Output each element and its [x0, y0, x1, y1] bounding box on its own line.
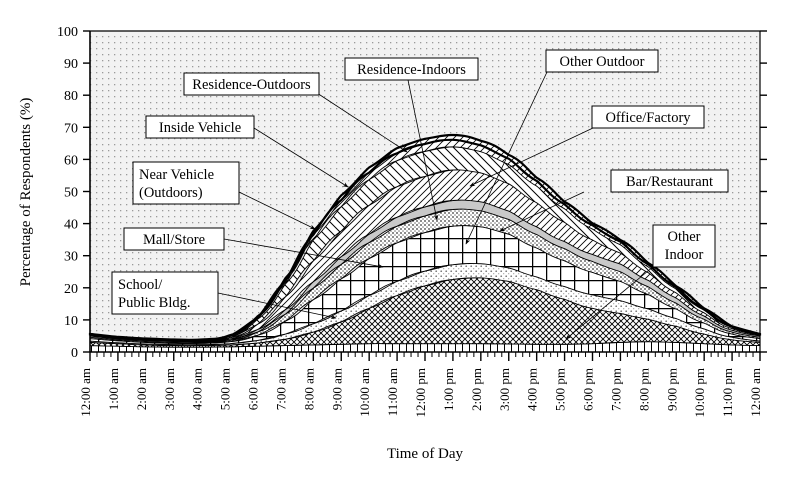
- callout-bar-restaurant[interactable]: Bar/Restaurant: [611, 170, 728, 192]
- x-axis-ticks: [90, 352, 760, 361]
- x-tick-label: 11:00 am: [385, 368, 400, 416]
- y-tick-label: 30: [64, 250, 78, 265]
- x-tick-label: 4:00 pm: [525, 368, 540, 411]
- x-tick-label: 7:00 pm: [608, 368, 623, 411]
- x-tick-label: 5:00 am: [218, 368, 233, 410]
- x-tick-label: 8:00 pm: [636, 368, 651, 411]
- y-tick-label: 50: [64, 186, 78, 201]
- x-tick-label: 10:00 pm: [692, 368, 707, 417]
- y-axis-title: Percentage of Respondents (%): [18, 98, 34, 287]
- callout-residence-indoors-label: Residence-Indoors: [357, 62, 466, 78]
- x-tick-label: 9:00 am: [329, 368, 344, 410]
- y-axis-ticks: [83, 31, 90, 352]
- callout-bar-restaurant-label: Bar/Restaurant: [626, 174, 713, 190]
- x-tick-label: 7:00 am: [273, 368, 288, 410]
- x-tick-label: 6:00 pm: [581, 368, 596, 411]
- y-tick-label: 10: [64, 314, 78, 329]
- x-tick-label: 12:00 am: [748, 368, 763, 417]
- chart-page: 0102030405060708090100 12:00 am1:00 am2:…: [0, 0, 800, 480]
- x-tick-label: 1:00 pm: [441, 368, 456, 411]
- callout-near-vehicle-line1: Near Vehicle: [139, 167, 214, 183]
- callout-residence-outdoors[interactable]: Residence-Outdoors: [184, 73, 319, 95]
- x-tick-label: 8:00 am: [301, 368, 316, 410]
- x-axis-tick-labels: 12:00 am1:00 am2:00 am3:00 am4:00 am5:00…: [78, 368, 763, 417]
- callout-residence-outdoors-label: Residence-Outdoors: [192, 77, 311, 93]
- callout-school-line1: School/: [118, 277, 163, 293]
- x-tick-label: 1:00 am: [106, 368, 121, 410]
- y-tick-label: 80: [64, 89, 78, 104]
- callout-near-vehicle[interactable]: Near Vehicle (Outdoors): [133, 162, 239, 204]
- x-tick-label: 12:00 am: [78, 368, 93, 417]
- x-tick-label: 4:00 am: [190, 368, 205, 410]
- y-tick-label: 90: [64, 57, 78, 72]
- x-axis-title: Time of Day: [387, 446, 464, 462]
- callout-office-factory[interactable]: Office/Factory: [592, 106, 704, 128]
- stacked-area-chart: 0102030405060708090100 12:00 am1:00 am2:…: [0, 0, 800, 480]
- callout-school-public-bldg[interactable]: School/ Public Bldg.: [112, 272, 218, 314]
- x-tick-label: 2:00 am: [134, 368, 149, 410]
- y-axis-tick-labels: 0102030405060708090100: [57, 25, 78, 361]
- y-tick-label: 20: [64, 282, 78, 297]
- callout-other-indoor-line2: Indoor: [665, 247, 704, 263]
- x-tick-label: 5:00 pm: [553, 368, 568, 411]
- callout-inside-vehicle-label: Inside Vehicle: [159, 120, 241, 136]
- x-tick-label: 10:00 am: [357, 368, 372, 417]
- y-tick-label: 100: [57, 25, 78, 40]
- callout-other-indoor-line1: Other: [667, 229, 700, 245]
- x-tick-label: 11:00 pm: [720, 368, 735, 417]
- y-tick-label: 40: [64, 218, 78, 233]
- x-tick-label: 2:00 pm: [469, 368, 484, 411]
- callout-inside-vehicle[interactable]: Inside Vehicle: [146, 116, 254, 138]
- y-tick-label: 0: [71, 346, 78, 361]
- callout-other-outdoor[interactable]: Other Outdoor: [546, 50, 658, 72]
- x-tick-label: 3:00 am: [162, 368, 177, 410]
- callout-other-indoor[interactable]: Other Indoor: [653, 225, 715, 267]
- callout-residence-indoors[interactable]: Residence-Indoors: [345, 58, 478, 80]
- callout-mall-store[interactable]: Mall/Store: [124, 228, 224, 250]
- callout-near-vehicle-line2: (Outdoors): [139, 185, 203, 201]
- x-tick-label: 3:00 pm: [497, 368, 512, 411]
- callout-office-factory-label: Office/Factory: [605, 110, 691, 126]
- callout-other-outdoor-label: Other Outdoor: [560, 54, 645, 70]
- x-tick-label: 12:00 pm: [413, 368, 428, 417]
- x-tick-label: 6:00 am: [246, 368, 261, 410]
- y-tick-label: 60: [64, 153, 78, 168]
- callout-mall-store-label: Mall/Store: [143, 232, 205, 248]
- callout-school-line2: Public Bldg.: [118, 295, 191, 311]
- right-axis-ticks: [760, 31, 767, 352]
- x-tick-label: 9:00 pm: [664, 368, 679, 411]
- y-tick-label: 70: [64, 121, 78, 136]
